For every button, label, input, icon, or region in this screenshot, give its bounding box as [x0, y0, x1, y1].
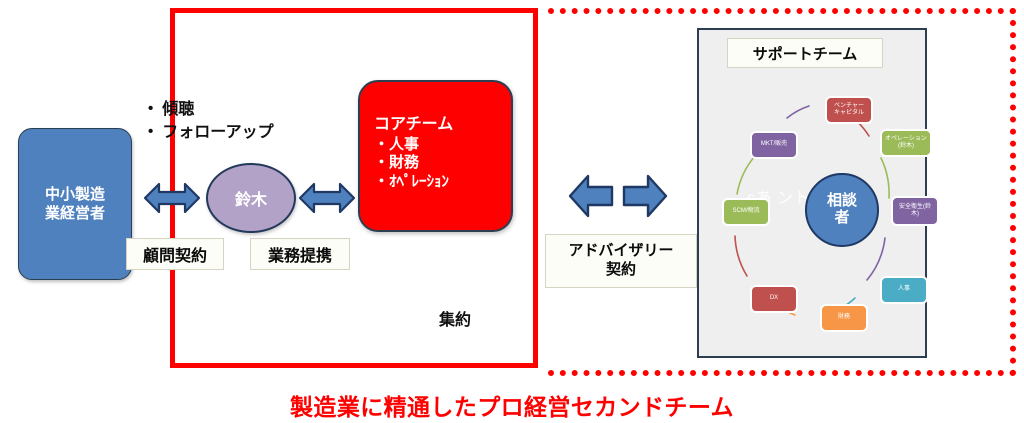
cycle-node-scm: SCM/物流 — [722, 198, 770, 226]
chip-advisory-agreement: アドバイザリー 契約 — [545, 234, 697, 288]
suzuki-person-node: 鈴木 — [206, 163, 296, 233]
core-team-item-hr: ・人事 — [374, 136, 511, 154]
cycle-node-dx: DX — [750, 285, 798, 313]
core-team-title: コアチーム — [374, 110, 511, 134]
chip-advisory-line1: アドバイザリー — [568, 242, 673, 261]
cycle-center-line2: 者 — [834, 210, 849, 227]
chip-advisory-line2: 契約 — [606, 261, 636, 280]
chip-komon-label: 顧問契約 — [143, 242, 207, 266]
core-team-box: コアチーム ・人事 ・財務 ・ｵﾍﾟﾚｰｼｮﾝ — [358, 80, 513, 232]
support-team-title-label: サポートチーム — [753, 43, 858, 64]
cycle-node-scm-label: SCM/物流 — [732, 208, 759, 215]
core-team-item-finance: ・財務 — [374, 154, 511, 172]
diagram-canvas: 中小製造 業経営者 • 傾聴 • フォローアップ 鈴木 顧問契約 業務提携 — [0, 0, 1024, 423]
sme-owner-box: 中小製造 業経営者 — [18, 128, 132, 280]
double-arrow-owner-suzuki — [143, 178, 201, 218]
cycle-node-safety-health-line1: 安全衛生(鈴 — [899, 204, 931, 211]
cycle-node-dx-label: DX — [770, 295, 778, 302]
cycle-center-client: 相談 者 — [805, 173, 879, 247]
bullet-label: フォローアップ — [162, 121, 273, 144]
engagement-bullets: • 傾聴 • フォローアップ — [148, 98, 338, 144]
chip-business-alliance: 業務提携 — [250, 238, 350, 270]
list-item: • 傾聴 — [148, 98, 338, 121]
support-team-title: サポートチーム — [727, 38, 883, 68]
cycle-node-venture-capital-line2: キャピタル — [834, 110, 864, 117]
cycle-node-mkt-label: MKT/販売 — [761, 141, 787, 148]
cycle-node-safety-health-line2: 木) — [899, 211, 931, 218]
bullet-label: 傾聴 — [162, 98, 194, 121]
cycle-node-operations-line2: (鈴木) — [885, 143, 927, 150]
sme-owner-label-line1: 中小製造 — [45, 185, 105, 204]
sme-owner-label-line2: 業経営者 — [45, 204, 105, 223]
arrow-right-support — [622, 172, 668, 220]
chip-gyomu-label: 業務提携 — [268, 242, 332, 266]
cycle-node-hr: 人事 — [880, 276, 928, 304]
list-item: • フォローアップ — [148, 121, 338, 144]
suzuki-label: 鈴木 — [235, 186, 267, 210]
chip-advisory-contract-komon: 顧問契約 — [126, 238, 224, 270]
arrow-left-core — [568, 172, 614, 220]
core-team-item-operations: ・ｵﾍﾟﾚｰｼｮﾝ — [374, 173, 511, 191]
cycle-node-operations: オペレーション (鈴木) — [880, 129, 932, 157]
bullet-dot-icon: • — [148, 98, 153, 120]
cycle-node-finance-label: 財務 — [838, 314, 850, 321]
bullet-dot-icon: • — [148, 121, 153, 143]
double-arrow-suzuki-core — [298, 178, 356, 218]
bottom-caption: 製造業に精通したプロ経営セカンドチーム — [0, 388, 1024, 422]
cycle-node-venture-capital-line1: ベンチャー — [834, 103, 864, 110]
core-team-footer-label: 集約 — [400, 306, 510, 330]
cycle-node-finance: 財務 — [820, 304, 868, 332]
cycle-node-hr-label: 人事 — [898, 286, 910, 293]
cycle-node-operations-line1: オペレーション — [885, 136, 927, 143]
cycle-node-mkt: MKT/販売 — [750, 131, 798, 159]
cycle-node-venture-capital: ベンチャー キャピタル — [825, 96, 873, 124]
cycle-center-line1: 相談 — [827, 193, 857, 210]
cycle-node-safety-health: 安全衛生(鈴 木) — [891, 196, 939, 226]
